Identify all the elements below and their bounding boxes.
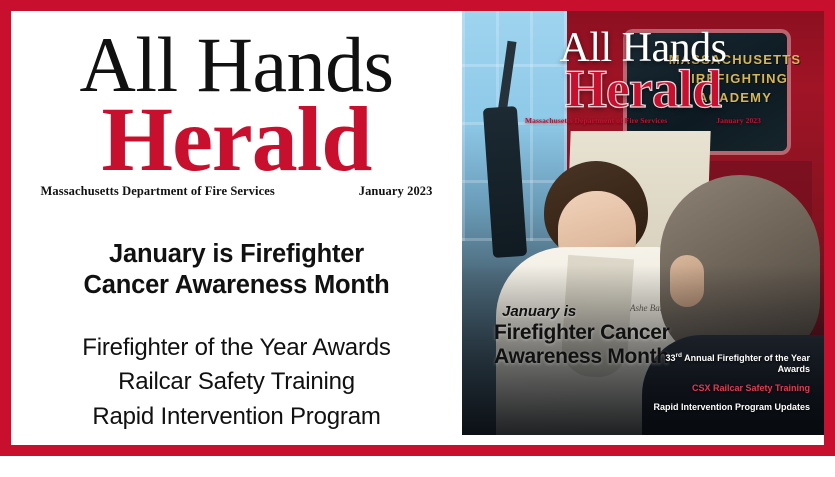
page-title: January is Firefighter Cancer Awareness …	[11, 239, 462, 301]
newsletter-banner: All Hands Herald Massachusetts Departmen…	[0, 0, 835, 477]
left-text-panel: All Hands Herald Massachusetts Departmen…	[11, 11, 462, 445]
cover-blurb-railcar: CSX Railcar Safety Training	[650, 383, 810, 395]
headline-line-2: Cancer Awareness Month	[11, 270, 462, 301]
cover-masthead-subtitle-row: Massachusetts Department of Fire Service…	[525, 116, 761, 125]
cover-blurb-awards: 33rd Annual Firefighter of the Year Awar…	[650, 352, 810, 377]
cover-headline-main: Firefighter Cancer Awareness Month	[494, 321, 669, 370]
cover-blurb-list: 33rd Annual Firefighter of the Year Awar…	[650, 352, 810, 422]
cover-blurb-awards-number: 33	[665, 353, 675, 363]
cover-masthead: All Hands Herald Massachusetts Departmen…	[462, 11, 824, 125]
masthead-line-herald: Herald	[11, 97, 462, 182]
list-item: Railcar Safety Training	[11, 365, 462, 399]
list-item: Firefighter of the Year Awards	[11, 331, 462, 365]
cover-headline-line-2: Awareness Month	[494, 345, 669, 369]
cover-masthead-line-herald: Herald	[462, 65, 824, 115]
cover-blurb-awards-text: Annual Firefighter of the Year Awards	[682, 353, 810, 375]
cover-headline-kicker: January is	[502, 303, 669, 320]
cover-blurb-rapid-intervention: Rapid Intervention Program Updates	[650, 402, 810, 414]
contents-list: Firefighter of the Year Awards Railcar S…	[11, 331, 462, 434]
masthead-publisher: Massachusetts Department of Fire Service…	[41, 184, 275, 199]
masthead: All Hands Herald Massachusetts Departmen…	[11, 11, 462, 199]
cover-headline: January is Firefighter Cancer Awareness …	[494, 303, 669, 370]
masthead-subtitle-row: Massachusetts Department of Fire Service…	[41, 184, 433, 199]
cover-headline-line-1: Firefighter Cancer	[494, 321, 669, 345]
masthead-issue-date: January 2023	[359, 184, 433, 199]
list-item: Rapid Intervention Program	[11, 400, 462, 434]
cover-masthead-issue-date: January 2023	[716, 116, 761, 125]
headline-line-1: January is Firefighter	[11, 239, 462, 270]
magazine-cover-image: MASSACHUSETTS FIREFIGHTING ACADEMY Ashe …	[462, 11, 824, 435]
cover-masthead-publisher: Massachusetts Department of Fire Service…	[525, 116, 667, 125]
